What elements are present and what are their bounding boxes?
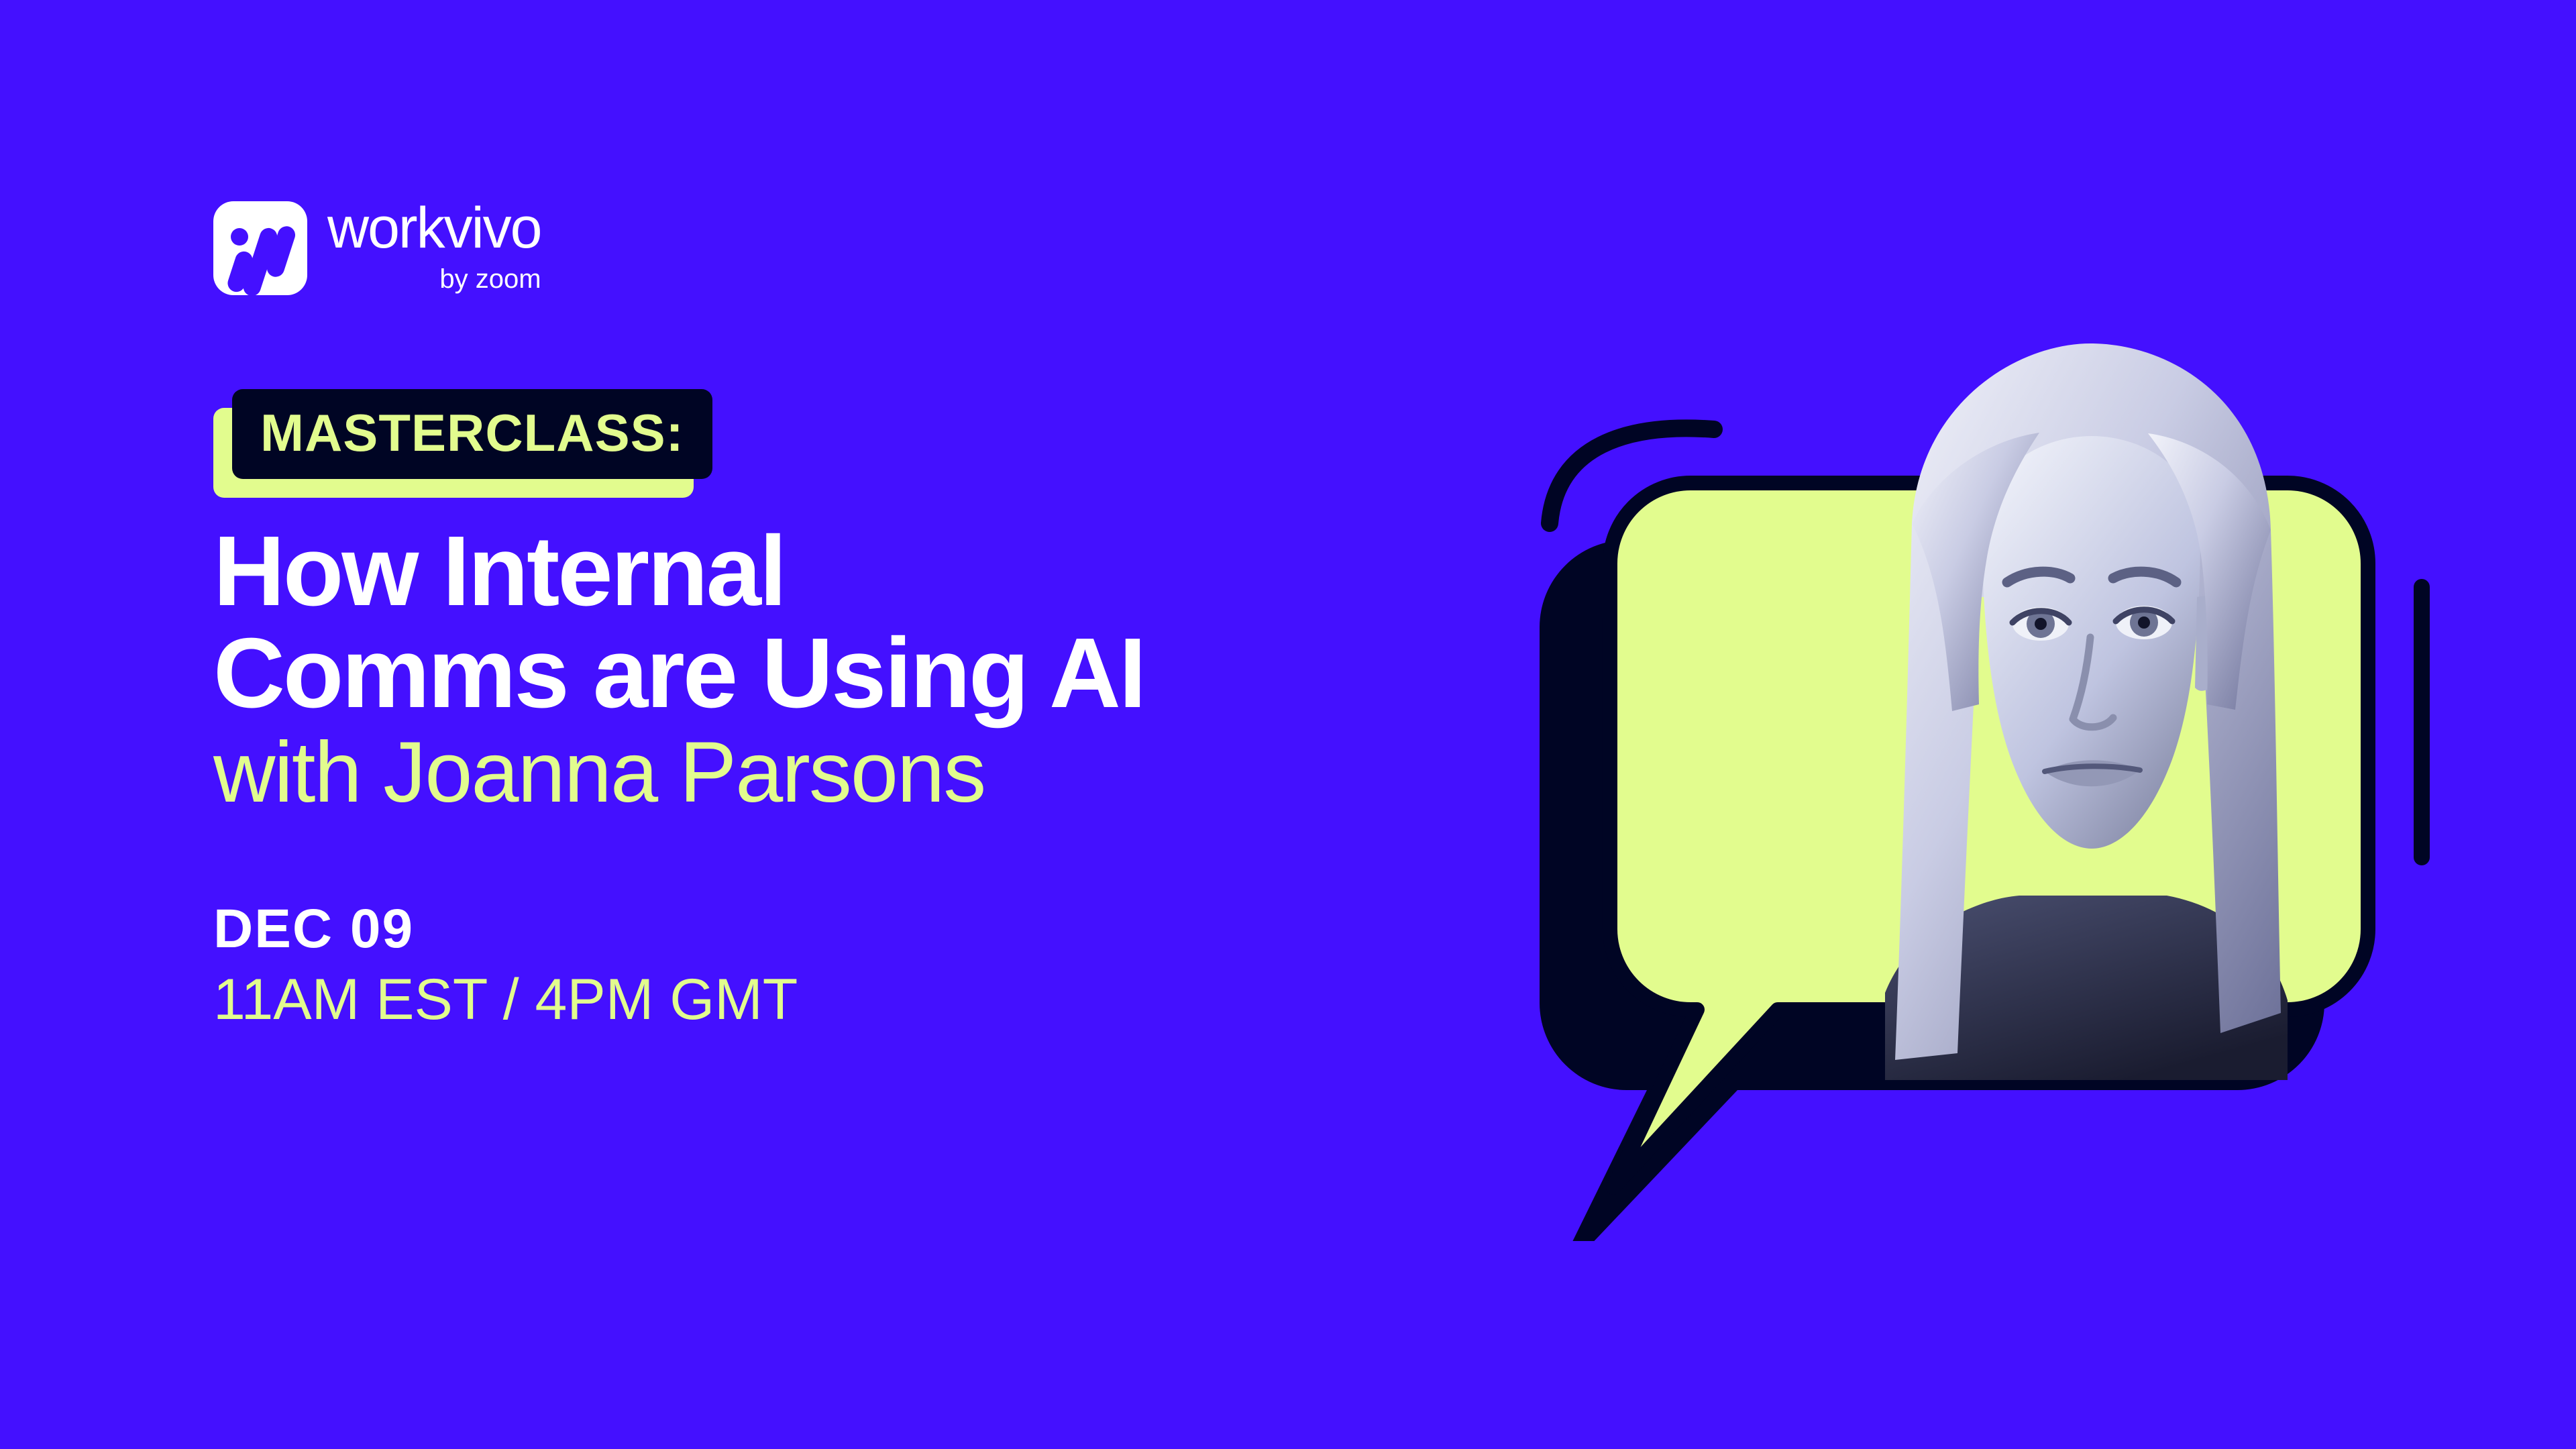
masterclass-badge: MASTERCLASS: — [232, 389, 712, 479]
wordmark-block: workvivo by zoom — [327, 201, 541, 294]
brand-byline: by zoom — [327, 264, 541, 294]
speaker-graphic — [1509, 302, 2576, 1241]
brand-logo-lockup: workvivo by zoom — [213, 201, 1555, 295]
badge-label: MASTERCLASS: — [260, 407, 684, 459]
subtitle-speaker: with Joanna Parsons — [213, 728, 1555, 818]
content-column: workvivo by zoom MASTERCLASS: How Intern… — [213, 201, 1555, 1033]
event-details: DEC 09 11AM EST / 4PM GMT — [213, 898, 1555, 1033]
event-time: 11AM EST / 4PM GMT — [213, 967, 1555, 1033]
brand-wordmark: workvivo — [327, 201, 541, 256]
workvivo-logo-mark-icon — [213, 201, 307, 295]
logo-dot — [231, 228, 248, 246]
speaker-portrait — [1885, 343, 2291, 1080]
badge-plate: MASTERCLASS: — [232, 389, 712, 479]
headline-line-2: Comms are Using AI — [213, 623, 1555, 724]
event-date: DEC 09 — [213, 898, 1555, 960]
page-title: How Internal Comms are Using AI — [213, 521, 1555, 725]
headline-line-1: How Internal — [213, 521, 1555, 623]
